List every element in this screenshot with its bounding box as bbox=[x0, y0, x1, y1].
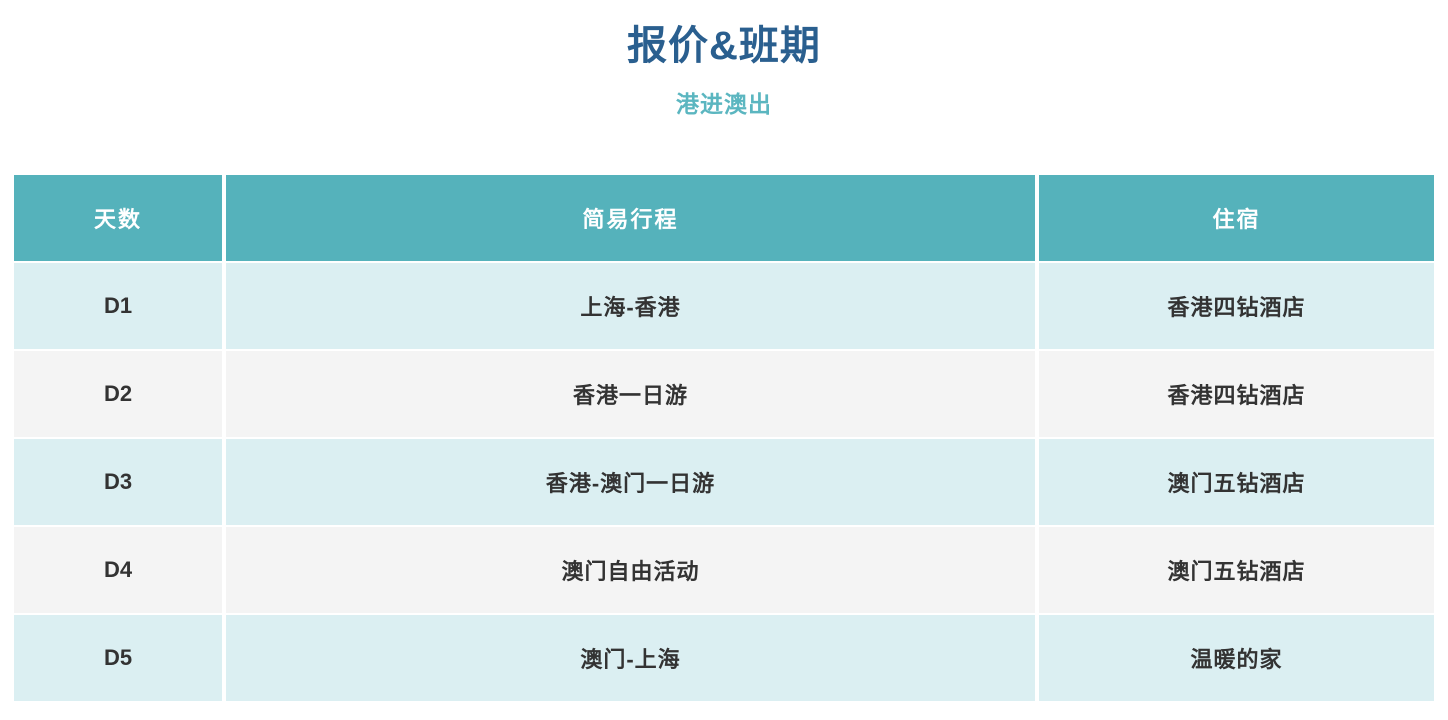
page-subtitle: 港进澳出 bbox=[0, 88, 1448, 120]
cell-hotel: 香港四钻酒店 bbox=[1039, 351, 1434, 437]
cell-route: 香港-澳门一日游 bbox=[226, 439, 1035, 525]
table-row: D5 澳门-上海 温暖的家 bbox=[14, 615, 1434, 701]
table-header-row: 天数 简易行程 住宿 bbox=[14, 175, 1434, 261]
column-header-days: 天数 bbox=[14, 175, 222, 261]
table-row: D2 香港一日游 香港四钻酒店 bbox=[14, 351, 1434, 437]
table-body: D1 上海-香港 香港四钻酒店 D2 香港一日游 香港四钻酒店 D3 香港-澳门… bbox=[14, 263, 1434, 701]
cell-route: 澳门-上海 bbox=[226, 615, 1035, 701]
cell-hotel: 香港四钻酒店 bbox=[1039, 263, 1434, 349]
column-header-hotel: 住宿 bbox=[1039, 175, 1434, 261]
cell-hotel: 澳门五钻酒店 bbox=[1039, 439, 1434, 525]
page-title: 报价&班期 bbox=[0, 18, 1448, 74]
cell-days: D4 bbox=[14, 527, 222, 613]
cell-hotel: 温暖的家 bbox=[1039, 615, 1434, 701]
table-row: D3 香港-澳门一日游 澳门五钻酒店 bbox=[14, 439, 1434, 525]
itinerary-table: 天数 简易行程 住宿 D1 上海-香港 香港四钻酒店 D2 香港一日游 香港四钻… bbox=[10, 173, 1438, 703]
table-header: 天数 简易行程 住宿 bbox=[14, 175, 1434, 261]
cell-hotel: 澳门五钻酒店 bbox=[1039, 527, 1434, 613]
table-row: D1 上海-香港 香港四钻酒店 bbox=[14, 263, 1434, 349]
cell-route: 香港一日游 bbox=[226, 351, 1035, 437]
table-row: D4 澳门自由活动 澳门五钻酒店 bbox=[14, 527, 1434, 613]
column-header-route: 简易行程 bbox=[226, 175, 1035, 261]
cell-days: D3 bbox=[14, 439, 222, 525]
cell-route: 上海-香港 bbox=[226, 263, 1035, 349]
page-heading: 报价&班期 港进澳出 bbox=[0, 0, 1448, 120]
cell-days: D5 bbox=[14, 615, 222, 701]
cell-days: D2 bbox=[14, 351, 222, 437]
cell-days: D1 bbox=[14, 263, 222, 349]
itinerary-page: 报价&班期 港进澳出 天数 简易行程 住宿 D1 上海-香港 香港四钻酒店 D2… bbox=[0, 0, 1448, 720]
cell-route: 澳门自由活动 bbox=[226, 527, 1035, 613]
